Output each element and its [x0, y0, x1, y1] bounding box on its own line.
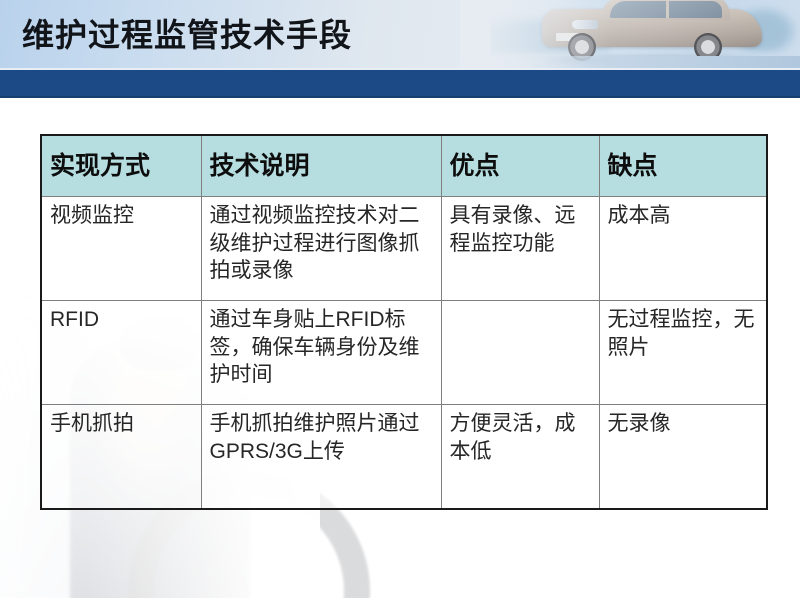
cell-method: 手机抓拍: [41, 405, 201, 509]
table-row: 视频监控 通过视频监控技术对二级维护过程进行图像抓拍或录像 具有录像、远程监控功…: [41, 197, 767, 301]
cell-cons: 成本高: [599, 197, 767, 301]
comparison-table: 实现方式 技术说明 优点 缺点 视频监控 通过视频监控技术对二级维护过程进行图像…: [40, 134, 768, 510]
cell-pros: [441, 301, 599, 405]
navy-accent-bar: [0, 70, 800, 98]
cell-description: 通过车身贴上RFID标签，确保车辆身份及维护时间: [201, 301, 441, 405]
cell-cons: 无过程监控，无照片: [599, 301, 767, 405]
page-title: 维护过程监管技术手段: [22, 10, 352, 56]
car-ground: [490, 56, 800, 68]
car-b-pillar: [666, 1, 669, 18]
cell-description: 通过视频监控技术对二级维护过程进行图像抓拍或录像: [201, 197, 441, 301]
column-header-method: 实现方式: [41, 135, 201, 197]
cell-cons: 无录像: [599, 405, 767, 509]
car-photo: [490, 0, 800, 68]
column-header-description: 技术说明: [201, 135, 441, 197]
table-header-row: 实现方式 技术说明 优点 缺点: [41, 135, 767, 197]
comparison-table-wrapper: 实现方式 技术说明 优点 缺点 视频监控 通过视频监控技术对二级维护过程进行图像…: [40, 134, 766, 510]
cell-pros: 方便灵活，成本低: [441, 405, 599, 509]
table-row: RFID 通过车身贴上RFID标签，确保车辆身份及维护时间 无过程监控，无照片: [41, 301, 767, 405]
column-header-pros: 优点: [441, 135, 599, 197]
table-row: 手机抓拍 手机抓拍维护照片通过GPRS/3G上传 方便灵活，成本低 无录像: [41, 405, 767, 509]
cell-method: 视频监控: [41, 197, 201, 301]
table-body: 视频监控 通过视频监控技术对二级维护过程进行图像抓拍或录像 具有录像、远程监控功…: [41, 197, 767, 509]
cell-description: 手机抓拍维护照片通过GPRS/3G上传: [201, 405, 441, 509]
column-header-cons: 缺点: [599, 135, 767, 197]
cell-method: RFID: [41, 301, 201, 405]
table-header: 实现方式 技术说明 优点 缺点: [41, 135, 767, 197]
slide: 维护过程监管技术手段 实现方式 技术说明 优点 缺点 视频监控 通过视频监控技术…: [0, 0, 800, 598]
car-headlight: [572, 20, 598, 29]
cell-pros: 具有录像、远程监控功能: [441, 197, 599, 301]
